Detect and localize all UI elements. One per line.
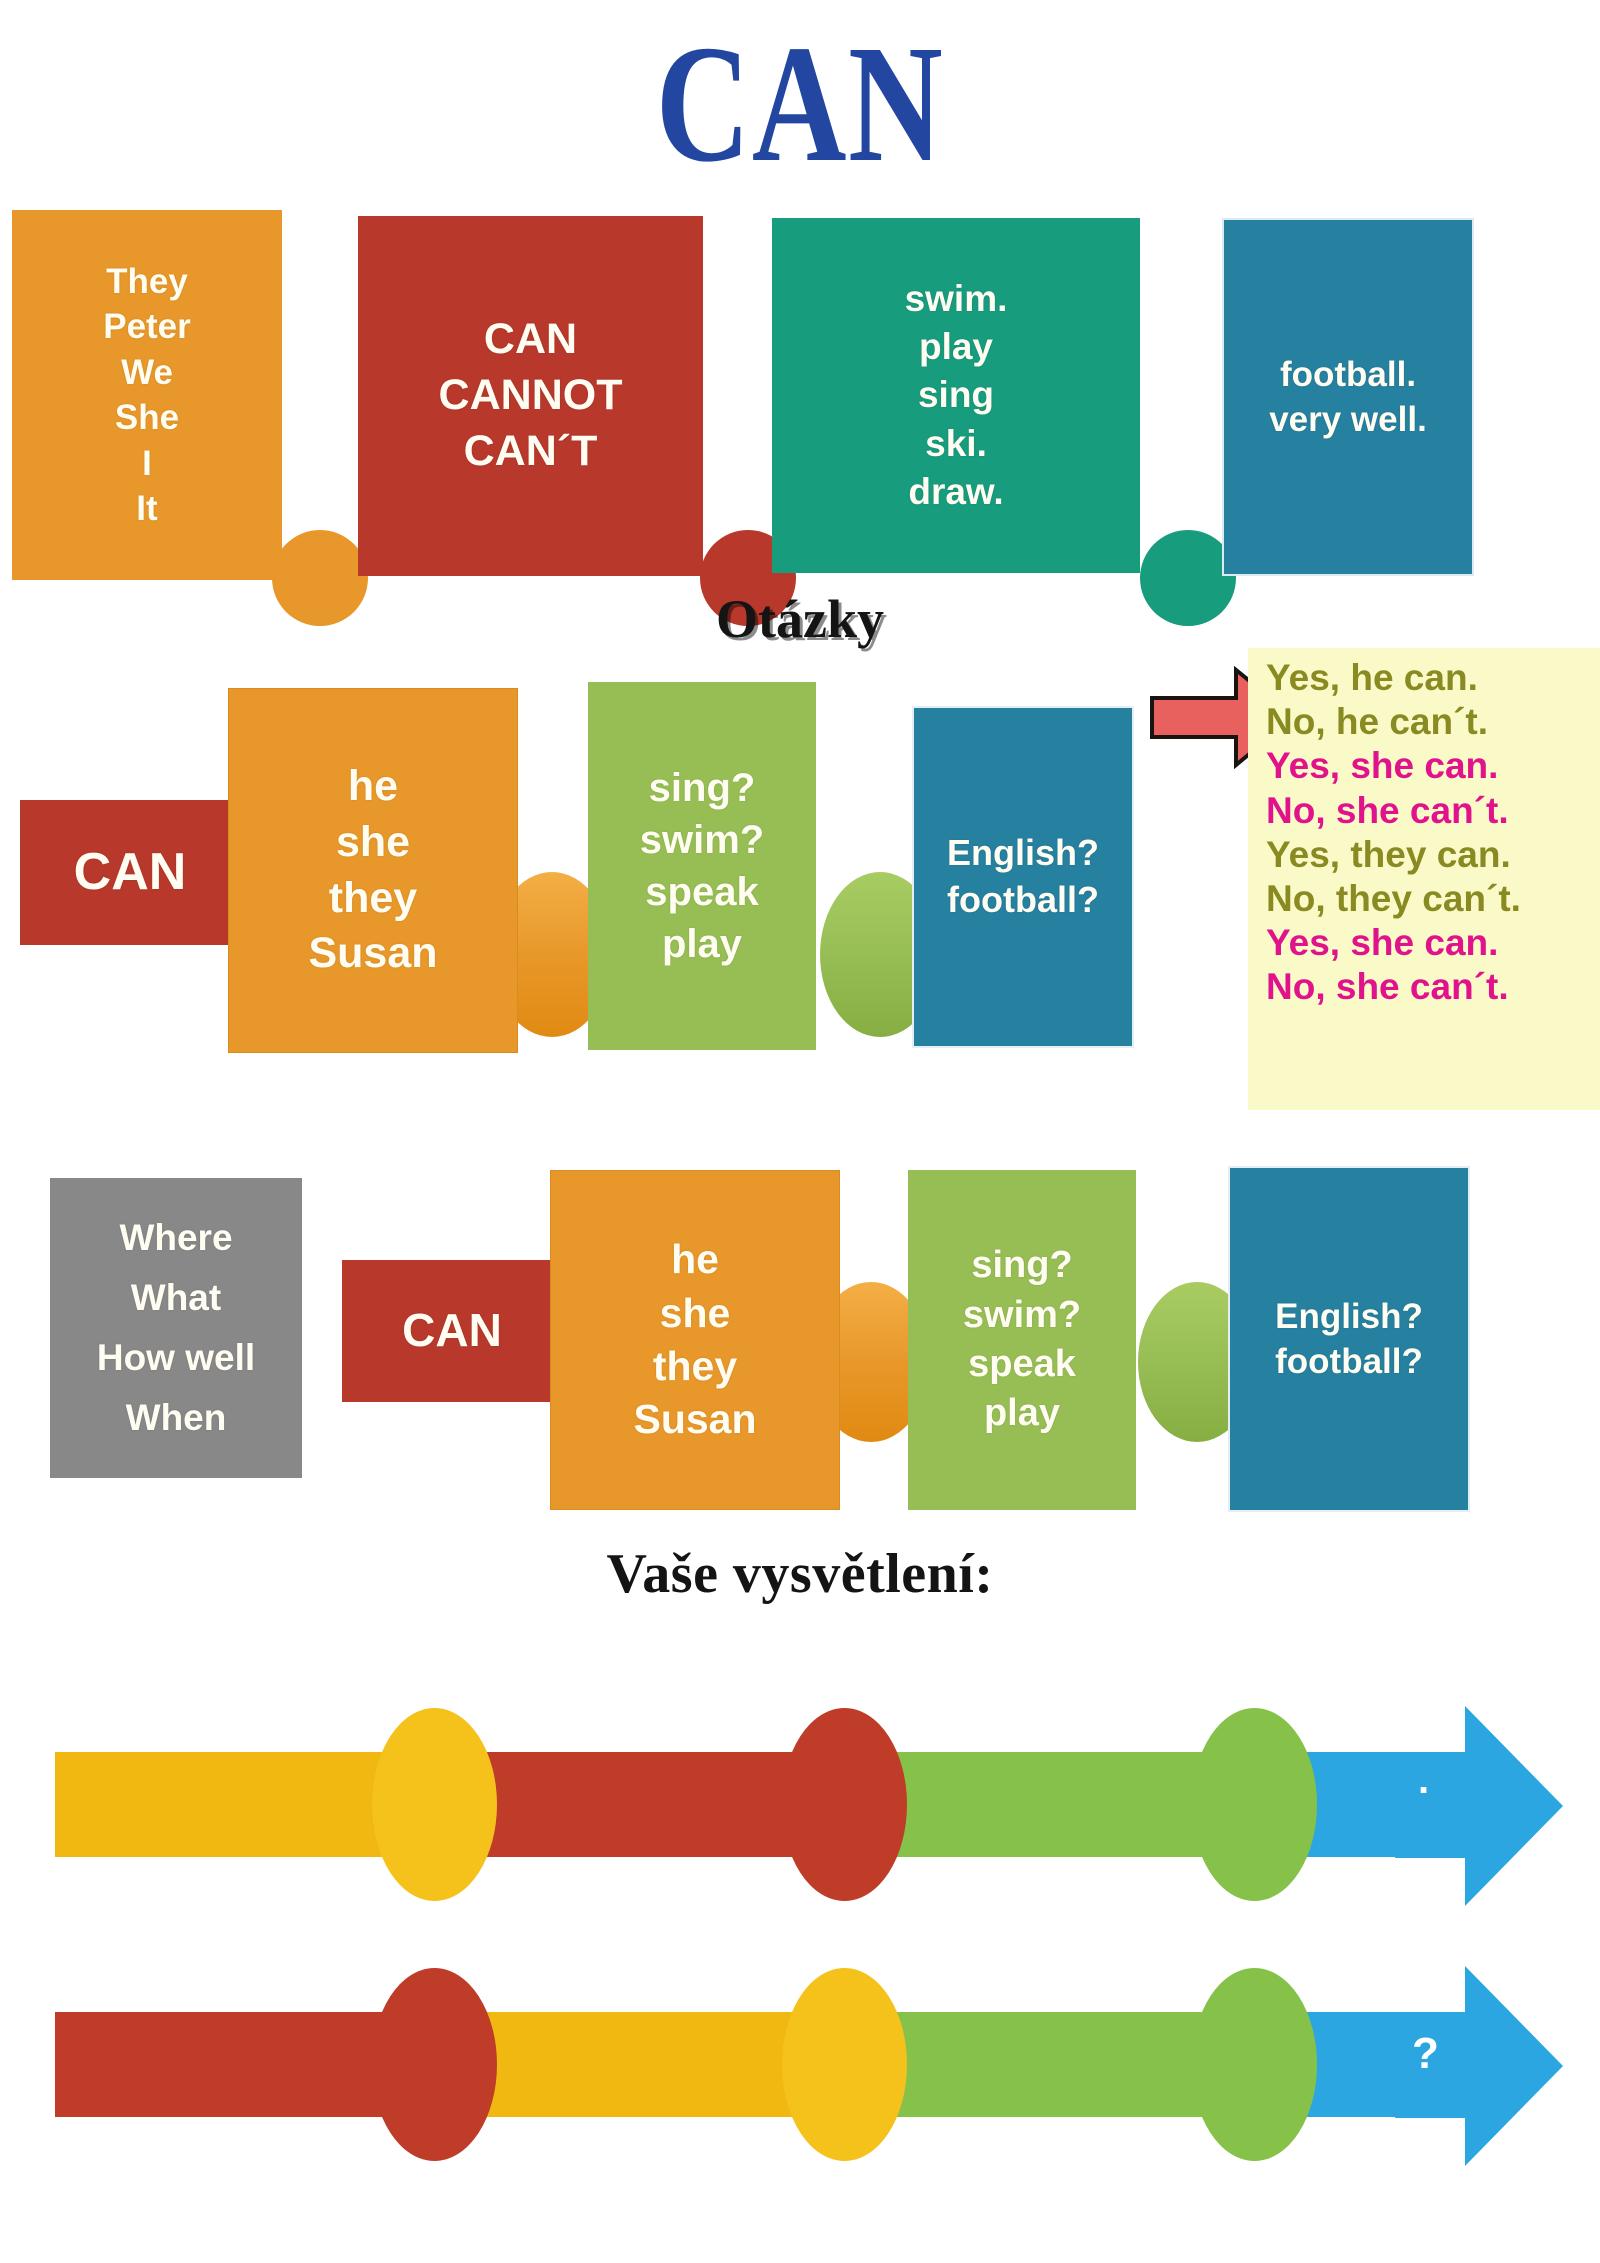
strip2-knob-green	[1192, 1968, 1317, 2161]
text-line: speak	[588, 866, 816, 918]
row2-subjects[interactable]: he she they Susan	[228, 688, 518, 1053]
answer-line: No, he can´t.	[1266, 700, 1586, 744]
text-line: play	[588, 918, 816, 970]
text-line: English?	[914, 830, 1132, 877]
answer-line: Yes, she can.	[1266, 921, 1586, 965]
text-line: CAN	[342, 1301, 562, 1361]
strip1-knob-green	[1192, 1708, 1317, 1901]
row3-modal[interactable]: CAN	[342, 1260, 562, 1402]
text-line: Where	[50, 1208, 302, 1268]
answer-line: No, she can´t.	[1266, 789, 1586, 833]
text-line: When	[50, 1388, 302, 1448]
strip2-mark: ?	[1412, 2032, 1439, 2076]
text-line: Susan	[551, 1393, 839, 1446]
text-line: football?	[914, 877, 1132, 924]
piece-modal-lines: CAN CANNOT CAN´T	[358, 312, 703, 480]
text-line: swim.	[772, 275, 1140, 323]
strip1-arrow-tip	[1395, 1706, 1575, 1906]
answer-line: No, they can´t.	[1266, 877, 1586, 921]
text-line: CAN	[358, 312, 703, 368]
text-line: sing?	[588, 762, 816, 814]
row3-subjects[interactable]: he she they Susan	[550, 1170, 840, 1510]
strip2-knob-red	[372, 1968, 497, 2161]
answer-line: No, she can´t.	[1266, 965, 1586, 1009]
answer-line: Yes, they can.	[1266, 833, 1586, 877]
piece-verbs-lines: swim. play sing ski. draw.	[772, 275, 1140, 515]
row3-question-words[interactable]: Where What How well When	[50, 1178, 302, 1478]
text-line: speak	[908, 1340, 1136, 1389]
text-line: CAN	[20, 839, 240, 907]
answer-line: Yes, he can.	[1266, 656, 1586, 700]
text-line: play	[772, 323, 1140, 371]
page-title: CAN	[176, 20, 1424, 188]
text-line: swim?	[908, 1291, 1136, 1340]
row3-wh-questions: Where What How well When CAN he she they…	[0, 1150, 1600, 1550]
text-line: she	[229, 815, 517, 871]
text-line: Susan	[229, 926, 517, 982]
question-arrow: ?	[0, 1960, 1600, 2180]
piece-objects-lines: football. very well.	[1224, 352, 1472, 443]
text-line: sing	[772, 371, 1140, 419]
row2-questions: CAN he she they Susan sing? swim? speak …	[0, 660, 1600, 1110]
text-line: football.	[1224, 352, 1472, 398]
text-line: very well.	[1224, 397, 1472, 443]
piece-objects[interactable]: football. very well.	[1222, 218, 1474, 576]
answer-line: Yes, she can.	[1266, 744, 1586, 788]
text-line: We	[12, 350, 282, 396]
heading-questions: Otázky	[0, 588, 1600, 650]
row3-objects[interactable]: English? football?	[1228, 1166, 1470, 1512]
text-line: sing?	[908, 1241, 1136, 1290]
text-line: play	[908, 1389, 1136, 1438]
text-line: They	[12, 259, 282, 305]
text-line: What	[50, 1268, 302, 1328]
strip1-knob-yellow	[372, 1708, 497, 1901]
piece-verbs[interactable]: swim. play sing ski. draw.	[772, 218, 1140, 573]
text-line: swim?	[588, 814, 816, 866]
statement-arrow: .	[0, 1700, 1600, 1920]
row2-modal[interactable]: CAN	[20, 800, 240, 945]
strip1-knob-red	[782, 1708, 907, 1901]
answers-panel: Yes, he can. No, he can´t. Yes, she can.…	[1248, 648, 1600, 1110]
text-line: She	[12, 395, 282, 441]
text-line: Peter	[12, 304, 282, 350]
text-line: football?	[1230, 1339, 1468, 1385]
text-line: she	[551, 1287, 839, 1340]
text-line: he	[229, 759, 517, 815]
text-line: I	[12, 441, 282, 487]
text-line: It	[12, 486, 282, 532]
row1-puzzle: They Peter We She I It CAN CANNOT CAN´T …	[0, 200, 1600, 590]
piece-subjects-lines: They Peter We She I It	[12, 259, 282, 532]
row2-objects[interactable]: English? football?	[912, 706, 1134, 1048]
text-line: he	[551, 1233, 839, 1286]
heading-explanation: Vaše vysvětlení:	[0, 1542, 1600, 1606]
strip2-knob-yellow	[782, 1968, 907, 2161]
text-line: How well	[50, 1328, 302, 1388]
text-line: English?	[1230, 1294, 1468, 1340]
text-line: draw.	[772, 468, 1140, 516]
row2-verbs[interactable]: sing? swim? speak play	[588, 682, 816, 1050]
text-line: they	[229, 871, 517, 927]
worksheet-canvas: CAN They Peter We She I It CAN CANNOT CA…	[0, 0, 1600, 2263]
text-line: they	[551, 1340, 839, 1393]
text-line: CANNOT	[358, 368, 703, 424]
piece-subjects[interactable]: They Peter We She I It	[12, 210, 282, 580]
text-line: CAN´T	[358, 424, 703, 480]
text-line: ski.	[772, 420, 1140, 468]
strip1-mark: .	[1418, 1760, 1429, 1800]
row3-verbs[interactable]: sing? swim? speak play	[908, 1170, 1136, 1510]
piece-modal[interactable]: CAN CANNOT CAN´T	[358, 216, 703, 576]
